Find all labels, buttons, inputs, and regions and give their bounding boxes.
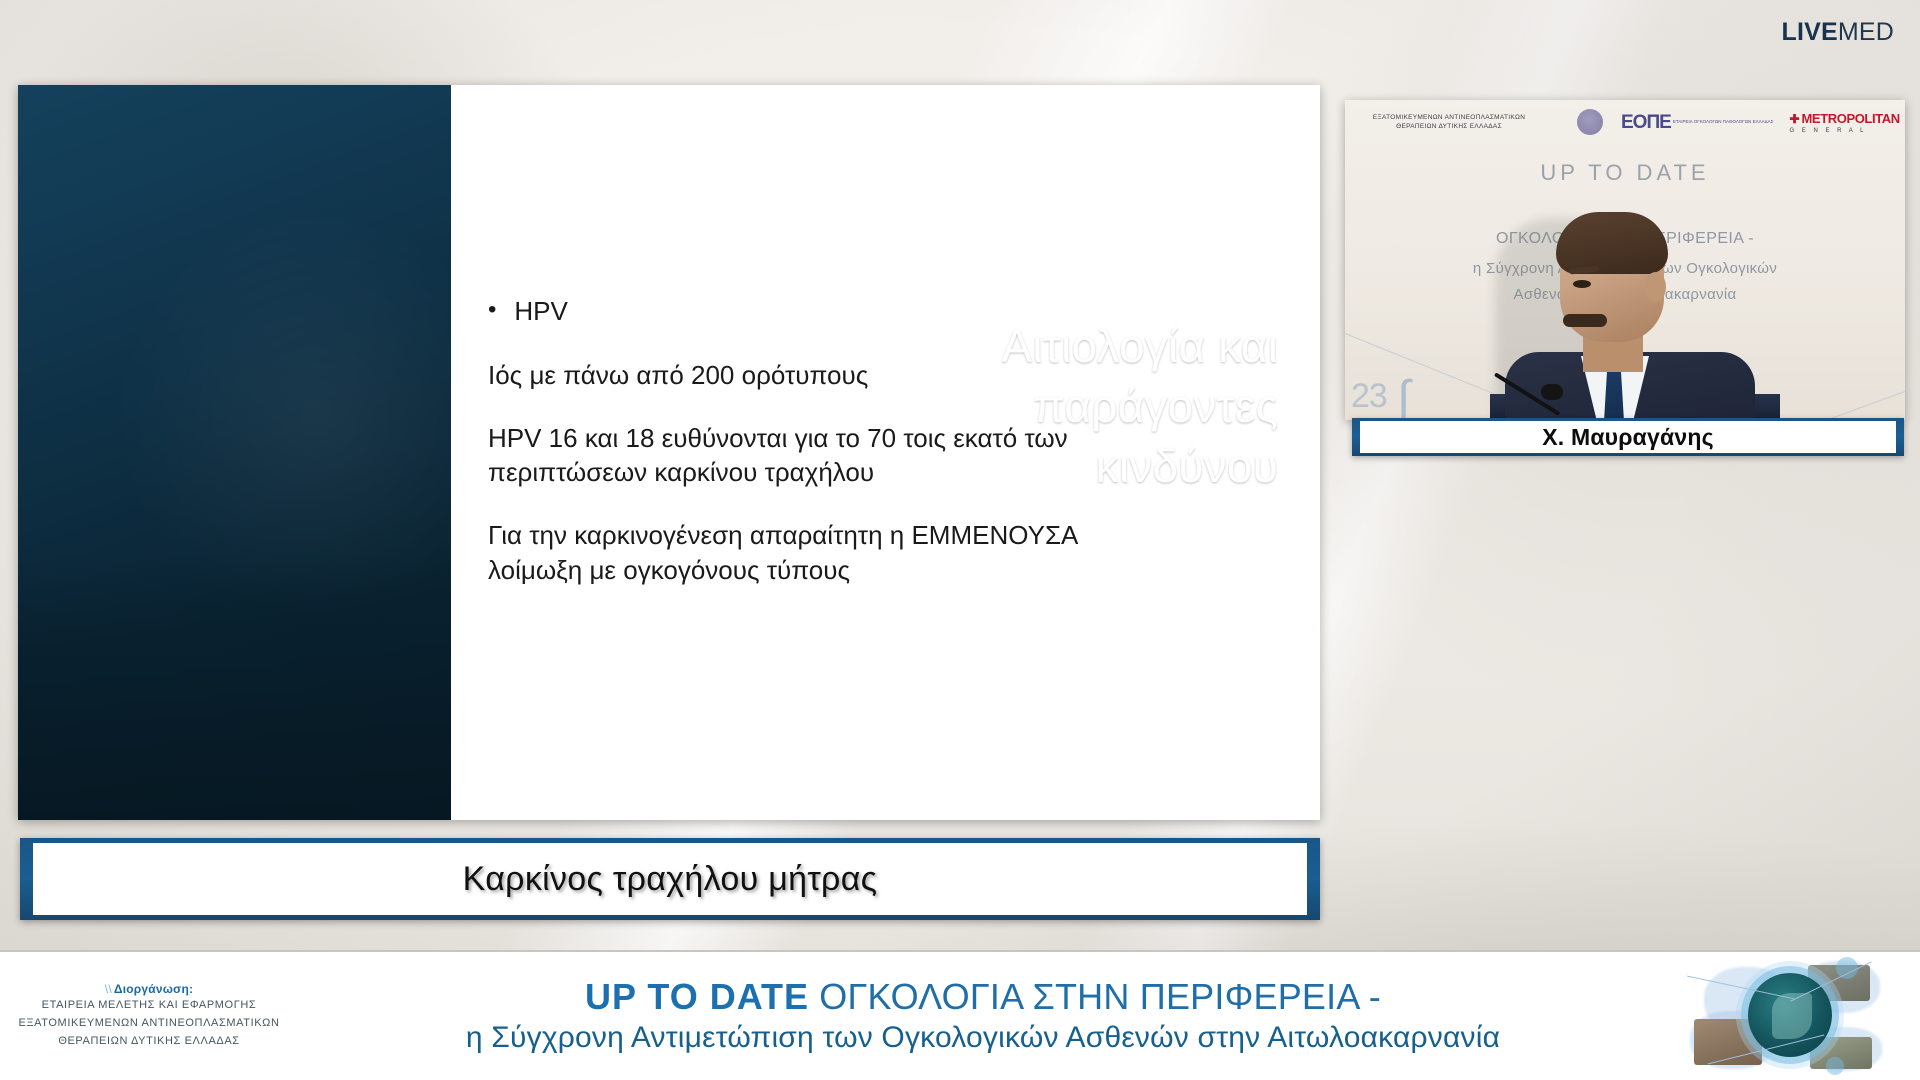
metropolitan-logo-top: ✚METROPOLITAN (1789, 111, 1899, 127)
emblem-bubble-2 (1826, 1057, 1844, 1075)
speaker-ear (1645, 272, 1666, 302)
slide-bullet-item: • HPV (488, 295, 1240, 328)
livemed-logo-bold: LIVE (1781, 18, 1837, 46)
footer-organizer-line-2: ΕΞΑΤΟΜΙΚΕΥΜΕΝΩΝ ΑΝΤΙΝΕΟΠΛΑΣΜΑΤΙΚΩΝ (8, 1015, 290, 1032)
speaker-video-frame: ΕΞΑΤΟΜΙΚΕΥΜΕΝΩΝ ΑΝΤΙΝΕΟΠΛΑΣΜΑΤΙΚΩΝ ΘΕΡΑΠ… (1345, 100, 1905, 420)
video-backdrop-headline: UP TO DATE (1345, 160, 1905, 186)
video-backdrop-swirl-icon: ∫ (1397, 371, 1410, 420)
footer-event-block: UP TO DATE ΟΓΚΟΛΟΓΙΑ ΣΤΗΝ ΠΕΡΙΦΕΡΕΙΑ - η… (290, 977, 1676, 1055)
footer-organizer-label-text: Διοργάνωση: (114, 982, 193, 996)
livemed-logo: LIVEMED (1781, 20, 1894, 45)
video-backdrop-org-text: ΕΞΑΤΟΜΙΚΕΥΜΕΝΩΝ ΑΝΤΙΝΕΟΠΛΑΣΜΑΤΙΚΩΝ ΘΕΡΑΠ… (1349, 113, 1549, 132)
speaker-hair (1556, 212, 1668, 274)
slide-bullet-label: HPV (514, 295, 567, 328)
slide-paragraph-1: Ιός με πάνω από 200 ορότυπους (488, 358, 1108, 393)
video-backdrop-org-line-1: ΕΞΑΤΟΜΙΚΕΥΜΕΝΩΝ ΑΝΤΙΝΕΟΠΛΑΣΜΑΤΙΚΩΝ (1349, 113, 1549, 122)
session-title-text: Καρκίνος τραχήλου μήτρας (463, 860, 878, 899)
footer-bar: \\Διοργάνωση: ΕΤΑΙΡΕΙΑ ΜΕΛΕΤΗΣ ΚΑΙ ΕΦΑΡΜ… (0, 950, 1920, 1080)
footer-slash-icon: \\ (105, 982, 112, 996)
footer-organizer-line-3: ΘΕΡΑΠΕΙΩΝ ΔΥΤΙΚΗΣ ΕΛΛΑΔΑΣ (8, 1033, 290, 1050)
livemed-logo-light: MED (1838, 18, 1894, 46)
speaker-video-player[interactable]: ΕΞΑΤΟΜΙΚΕΥΜΕΝΩΝ ΑΝΤΙΝΕΟΠΛΑΣΜΑΤΙΚΩΝ ΘΕΡΑΠ… (1345, 100, 1905, 420)
slide-paragraph-3: Για την καρκινογένεση απαραίτητη η ΕΜΜΕΝ… (488, 518, 1108, 587)
video-backdrop-org-line-2: ΘΕΡΑΠΕΙΩΝ ΔΥΤΙΚΗΣ ΕΛΛΑΔΑΣ (1349, 122, 1549, 131)
eope-logo-subtitle: ΕΤΑΙΡΕΙΑ ΟΓΚΟΛΟΓΩΝ ΠΑΘΟΛΟΓΩΝ ΕΛΛΑΔΑΣ (1673, 119, 1774, 126)
speaker-moustache (1563, 314, 1607, 327)
eope-logo: ΕΟΠΕ (1621, 113, 1671, 132)
microphone-head-icon (1541, 384, 1563, 400)
session-title-banner: Καρκίνος τραχήλου μήτρας (20, 838, 1320, 920)
event-emblem-logo (1676, 957, 1906, 1075)
footer-event-line-1: UP TO DATE ΟΓΚΟΛΟΓΙΑ ΣΤΗΝ ΠΕΡΙΦΕΡΕΙΑ - (290, 977, 1676, 1017)
metropolitan-logo-bottom: G E N E R A L (1789, 128, 1899, 134)
presentation-slide[interactable]: Αιτιολογία και παράγοντες κινδύνου • HPV… (18, 85, 1320, 820)
video-backdrop-logo-row: ΕΞΑΤΟΜΙΚΕΥΜΕΝΩΝ ΑΝΤΙΝΕΟΠΛΑΣΜΑΤΙΚΩΝ ΘΕΡΑΠ… (1345, 105, 1905, 139)
speaker-name-plate: Χ. Μαυραγάνης (1352, 418, 1904, 456)
bullet-dot-icon: • (488, 295, 496, 326)
slide-paragraph-2: HPV 16 και 18 ευθύνονται για το 70 τοις … (488, 421, 1108, 490)
speaker-name-text: Χ. Μαυραγάνης (1542, 424, 1714, 451)
slide-panel-gradient-band (18, 555, 451, 820)
slide-body: • HPV Ιός με πάνω από 200 ορότυπους HPV … (488, 295, 1240, 615)
footer-organizer-label: \\Διοργάνωση: (8, 982, 290, 996)
footer-event-line-2: η Σύγχρονη Αντιμετώπιση των Ογκολογικών … (290, 1021, 1676, 1055)
video-backdrop-decor-line-2 (1783, 391, 1905, 420)
speaker-name-plate-inner: Χ. Μαυραγάνης (1360, 421, 1896, 453)
speaker-eye (1573, 280, 1591, 288)
video-backdrop-year-mark: 23 (1351, 377, 1387, 416)
footer-event-subtitle: ΟΓΚΟΛΟΓΙΑ ΣΤΗΝ ΠΕΡΙΦΕΡΕΙΑ - (819, 976, 1381, 1017)
session-title-banner-inner: Καρκίνος τραχήλου μήτρας (33, 843, 1307, 915)
metropolitan-general-logo: ✚METROPOLITAN G E N E R A L (1789, 111, 1899, 134)
footer-event-brand: UP TO DATE (585, 976, 809, 1017)
footer-organizer-line-1: ΕΤΑΙΡΕΙΑ ΜΕΛΕΤΗΣ ΚΑΙ ΕΦΑΡΜΟΓΗΣ (8, 997, 290, 1014)
medical-cross-icon: ✚ (1789, 113, 1799, 125)
university-seal-icon (1577, 109, 1603, 135)
footer-organizer-block: \\Διοργάνωση: ΕΤΑΙΡΕΙΑ ΜΕΛΕΤΗΣ ΚΑΙ ΕΦΑΡΜ… (0, 982, 290, 1050)
